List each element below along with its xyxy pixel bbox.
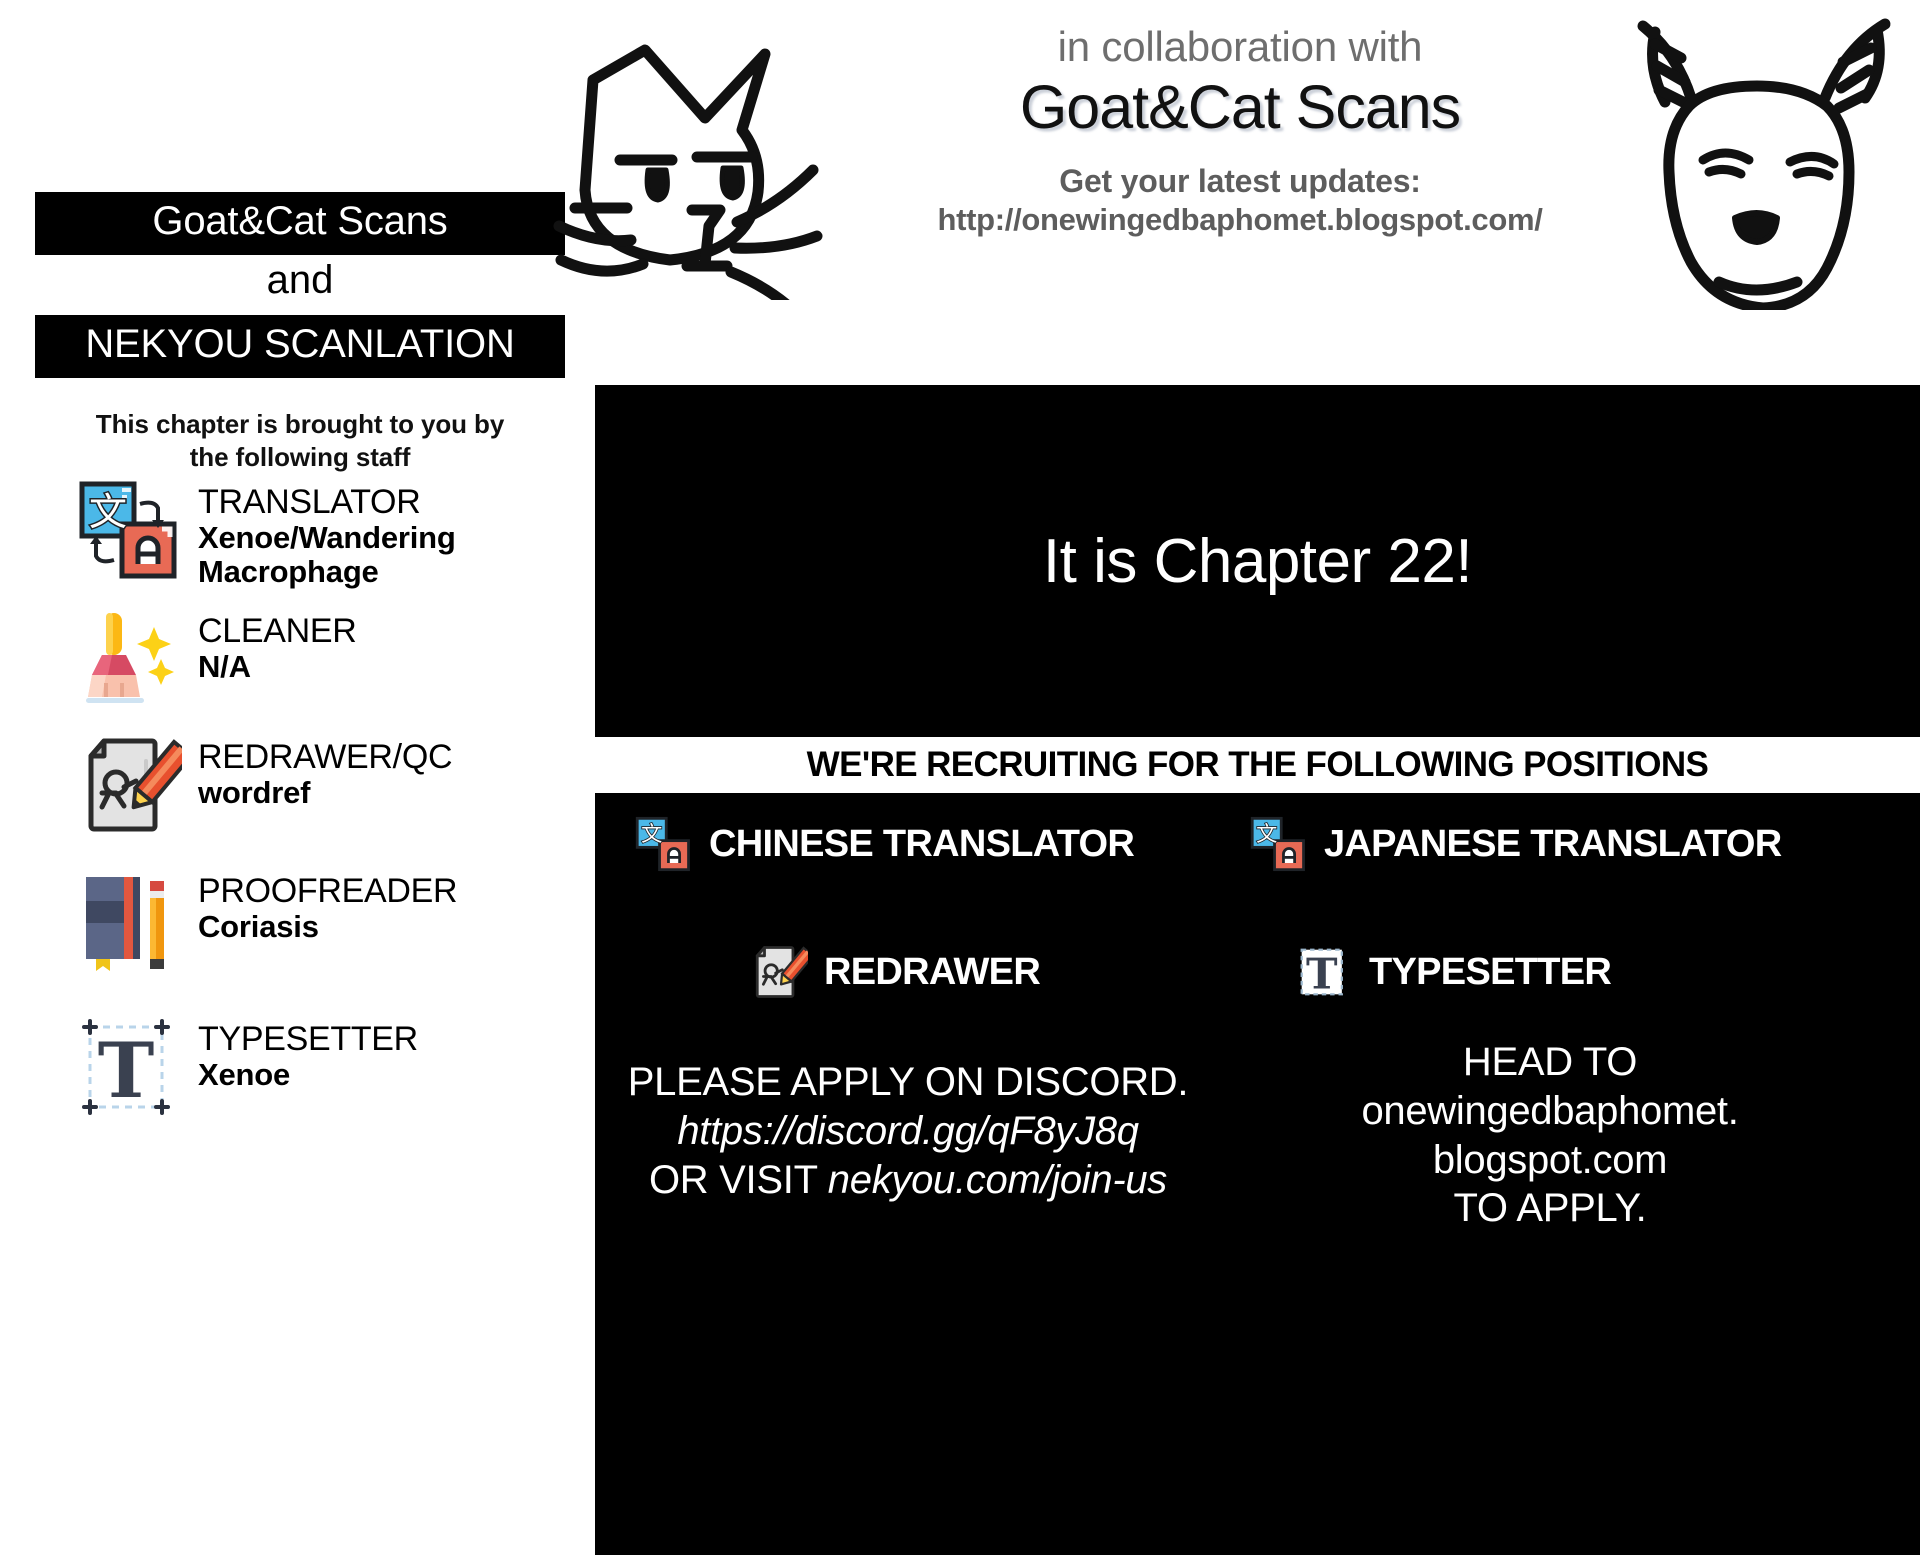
notebook-pencil-icon xyxy=(78,867,182,971)
header-text: in collaboration with Goat&Cat Scans Get… xyxy=(845,22,1635,239)
blog-domain-line-1[interactable]: onewingedbaphomet. xyxy=(1235,1087,1865,1136)
group-banner: Goat&Cat Scans xyxy=(35,192,565,255)
staff-row-typesetter: T TYPESETTER Xenoe xyxy=(78,1015,598,1119)
staff-row-translator: 文 TRANSLATOR Xenoe/Wandering Macrophage xyxy=(78,478,598,589)
staff-row-cleaner: CLEANER N/A xyxy=(78,607,598,711)
recruiting-banner: WE'RE RECRUITING FOR THE FOLLOWING POSIT… xyxy=(595,737,1920,793)
translate-icon: 文 xyxy=(1250,815,1308,873)
brought-by-line-2: the following staff xyxy=(35,441,565,474)
cat-face-drawing xyxy=(545,20,875,300)
apply-site-line: OR VISIT nekyou.com/join-us xyxy=(623,1156,1193,1205)
recruiting-body: 文 CHINESE TRANSLATOR 文 xyxy=(595,793,1920,1555)
cat-face-drawing-svg xyxy=(545,20,875,300)
svg-text:T: T xyxy=(98,1026,155,1115)
blog-domain-line-2[interactable]: blogspot.com xyxy=(1235,1136,1865,1185)
translate-icon: 文 xyxy=(78,478,182,582)
translate-icon-svg: 文 xyxy=(635,815,693,873)
banner-conjunction: and xyxy=(35,256,565,304)
staff-name-proofreader: Coriasis xyxy=(198,910,457,944)
right-panel: in collaboration with Goat&Cat Scans Get… xyxy=(595,0,1920,1555)
svg-text:文: 文 xyxy=(641,821,662,846)
staff-text-proofreader: PROOFREADER Coriasis xyxy=(198,867,457,944)
typesetter-t-icon-svg: T xyxy=(1295,943,1353,1001)
position-label-chinese-translator: CHINESE TRANSLATOR xyxy=(709,823,1134,866)
notebook-pencil-icon-svg xyxy=(78,867,182,971)
typesetter-t-icon: T xyxy=(78,1015,182,1119)
translate-icon-svg: 文 xyxy=(1250,815,1308,873)
typesetter-t-icon-svg: T xyxy=(78,1015,182,1119)
staff-role-proofreader: PROOFREADER xyxy=(198,873,457,910)
staff-text-typesetter: TYPESETTER Xenoe xyxy=(198,1015,418,1092)
apply-site-prefix: OR VISIT xyxy=(649,1158,828,1202)
memo-pencil-icon xyxy=(78,733,182,837)
goat-head-drawing xyxy=(1585,10,1915,310)
staff-list: 文 TRANSLATOR Xenoe/Wandering Macrophage xyxy=(78,478,598,1137)
discord-invite-link[interactable]: https://discord.gg/qF8yJ8q xyxy=(623,1107,1193,1156)
credits-page: Goat&Cat Scans and NEKYOU SCANLATION Thi… xyxy=(0,0,1920,1555)
brought-by-line-1: This chapter is brought to you by xyxy=(35,408,565,441)
apply-instructions-left: PLEASE APPLY ON DISCORD. https://discord… xyxy=(623,1058,1193,1204)
position-label-typesetter: TYPESETTER xyxy=(1369,951,1611,994)
memo-pencil-icon-svg xyxy=(78,733,182,837)
nekyou-join-link[interactable]: nekyou.com/join-us xyxy=(828,1158,1167,1202)
staff-name-redrawer: wordref xyxy=(198,776,452,810)
staff-row-proofreader: PROOFREADER Coriasis xyxy=(78,867,598,971)
position-japanese-translator[interactable]: 文 JAPANESE TRANSLATOR xyxy=(1250,815,1782,873)
collaboration-brand: Goat&Cat Scans xyxy=(845,74,1635,141)
apply-instructions-right: HEAD TO onewingedbaphomet. blogspot.com … xyxy=(1235,1038,1865,1233)
staff-role-typesetter: TYPESETTER xyxy=(198,1021,418,1058)
head-to-line: HEAD TO xyxy=(1235,1038,1865,1087)
position-label-redrawer: REDRAWER xyxy=(824,951,1040,994)
position-label-japanese-translator: JAPANESE TRANSLATOR xyxy=(1324,823,1782,866)
brought-by-caption: This chapter is brought to you by the fo… xyxy=(35,408,565,473)
staff-name-translator: Xenoe/Wandering Macrophage xyxy=(198,521,558,589)
recruiting-banner-text: WE'RE RECRUITING FOR THE FOLLOWING POSIT… xyxy=(807,745,1709,785)
broom-sparkle-icon xyxy=(78,607,182,711)
collaboration-label: in collaboration with xyxy=(845,22,1635,72)
to-apply-line: TO APPLY. xyxy=(1235,1184,1865,1233)
position-typesetter[interactable]: T TYPESETTER xyxy=(1295,943,1611,1001)
staff-role-redrawer: REDRAWER/QC xyxy=(198,739,452,776)
updates-url[interactable]: http://onewingedbaphomet.blogspot.com/ xyxy=(845,201,1635,240)
header-band: in collaboration with Goat&Cat Scans Get… xyxy=(595,0,1920,385)
memo-pencil-icon-svg xyxy=(750,943,808,1001)
staff-role-translator: TRANSLATOR xyxy=(198,484,558,521)
staff-text-redrawer: REDRAWER/QC wordref xyxy=(198,733,452,810)
partner-banner: NEKYOU SCANLATION xyxy=(35,315,565,378)
staff-role-cleaner: CLEANER xyxy=(198,613,357,650)
memo-pencil-icon xyxy=(750,943,808,1001)
chapter-announcement-box: It is Chapter 22! xyxy=(595,385,1920,737)
apply-discord-line: PLEASE APPLY ON DISCORD. xyxy=(623,1058,1193,1107)
position-chinese-translator[interactable]: 文 CHINESE TRANSLATOR xyxy=(635,815,1134,873)
translate-icon: 文 xyxy=(635,815,693,873)
staff-text-translator: TRANSLATOR Xenoe/Wandering Macrophage xyxy=(198,478,558,589)
typesetter-t-icon: T xyxy=(1295,943,1353,1001)
updates-label: Get your latest updates: xyxy=(845,161,1635,201)
svg-text:文: 文 xyxy=(89,490,127,534)
credits-column: Goat&Cat Scans and NEKYOU SCANLATION Thi… xyxy=(0,0,595,1555)
svg-text:文: 文 xyxy=(1256,821,1277,846)
staff-name-cleaner: N/A xyxy=(198,650,357,684)
broom-sparkle-icon-svg xyxy=(78,607,182,711)
chapter-title: It is Chapter 22! xyxy=(1043,526,1472,597)
translate-icon-svg: 文 xyxy=(78,478,182,582)
staff-text-cleaner: CLEANER N/A xyxy=(198,607,357,684)
staff-name-typesetter: Xenoe xyxy=(198,1058,418,1092)
goat-head-drawing-svg xyxy=(1585,10,1915,310)
staff-row-redrawer: REDRAWER/QC wordref xyxy=(78,733,598,837)
position-redrawer[interactable]: REDRAWER xyxy=(750,943,1040,1001)
svg-text:T: T xyxy=(1306,949,1338,999)
